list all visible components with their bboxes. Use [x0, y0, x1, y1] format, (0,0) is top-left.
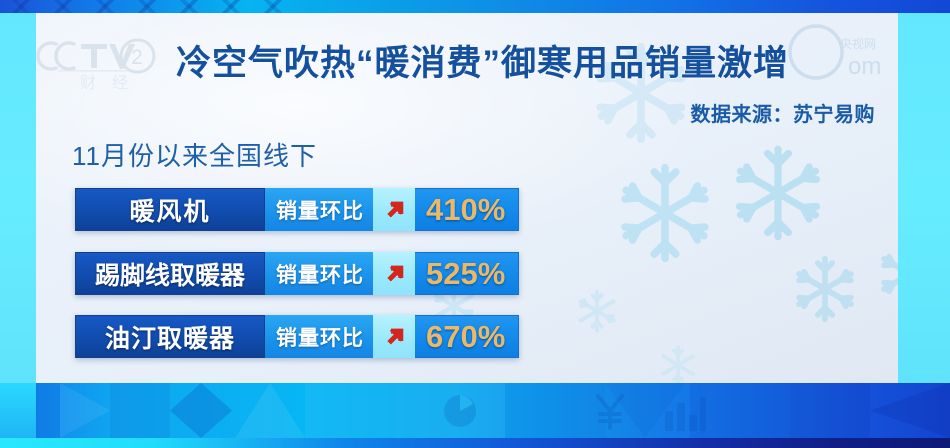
metric-value: 410%: [415, 188, 519, 231]
right-cyan-rail: [898, 13, 950, 383]
snowflake-icon: [726, 141, 830, 245]
metric-value: 670%: [415, 315, 519, 358]
left-cyan-rail: [0, 13, 36, 383]
metric-label: 销量环比: [265, 188, 373, 231]
metric-label: 销量环比: [265, 315, 373, 358]
bottom-edge-strip: [0, 438, 950, 448]
product-name-label: 油汀取暖器: [75, 315, 265, 358]
bottom-band-left-cap: [0, 383, 36, 438]
cctv2-finance-logo: 2 财 经: [36, 30, 158, 92]
product-name-label: 暖风机: [75, 188, 265, 231]
snowflake-icon: [574, 288, 620, 334]
table-row: 踢脚线取暖器 销量环比 525%: [75, 252, 519, 295]
snowflake-icon: [789, 253, 861, 325]
snowflake-icon: [656, 343, 700, 383]
broadcast-graphic: 2 财 经 央视网 om 冷空气吹热“暖消费”御寒用品销量激增 数据来源：苏宁易…: [0, 0, 950, 448]
pie-chart-icon: [440, 391, 480, 431]
product-name-label: 踢脚线取暖器: [75, 252, 265, 295]
top-accent-band: [0, 0, 950, 13]
snowflake-icon: [874, 238, 898, 310]
snowflake-icon: [611, 159, 719, 267]
arrow-up-right-icon: [373, 188, 415, 231]
metric-value: 525%: [415, 252, 519, 295]
data-source-label: 数据来源：苏宁易购: [545, 98, 875, 127]
page-title: 冷空气吹热“暖消费”御寒用品销量激增: [176, 40, 896, 88]
bar-chart-icon: [662, 395, 708, 431]
svg-text:2: 2: [131, 46, 143, 69]
metric-label: 销量环比: [265, 252, 373, 295]
yen-symbol-icon: [590, 389, 630, 433]
subtitle-period: 11月份以来全国线下: [72, 136, 317, 173]
svg-text:经: 经: [112, 74, 128, 92]
top-band-pattern: [0, 0, 290, 13]
svg-text:财: 财: [80, 74, 96, 92]
table-row: 油汀取暖器 销量环比 670%: [75, 315, 519, 358]
table-row: 暖风机 销量环比 410%: [75, 188, 519, 231]
arrow-up-right-icon: [373, 315, 415, 358]
arrow-up-right-icon: [373, 252, 415, 295]
